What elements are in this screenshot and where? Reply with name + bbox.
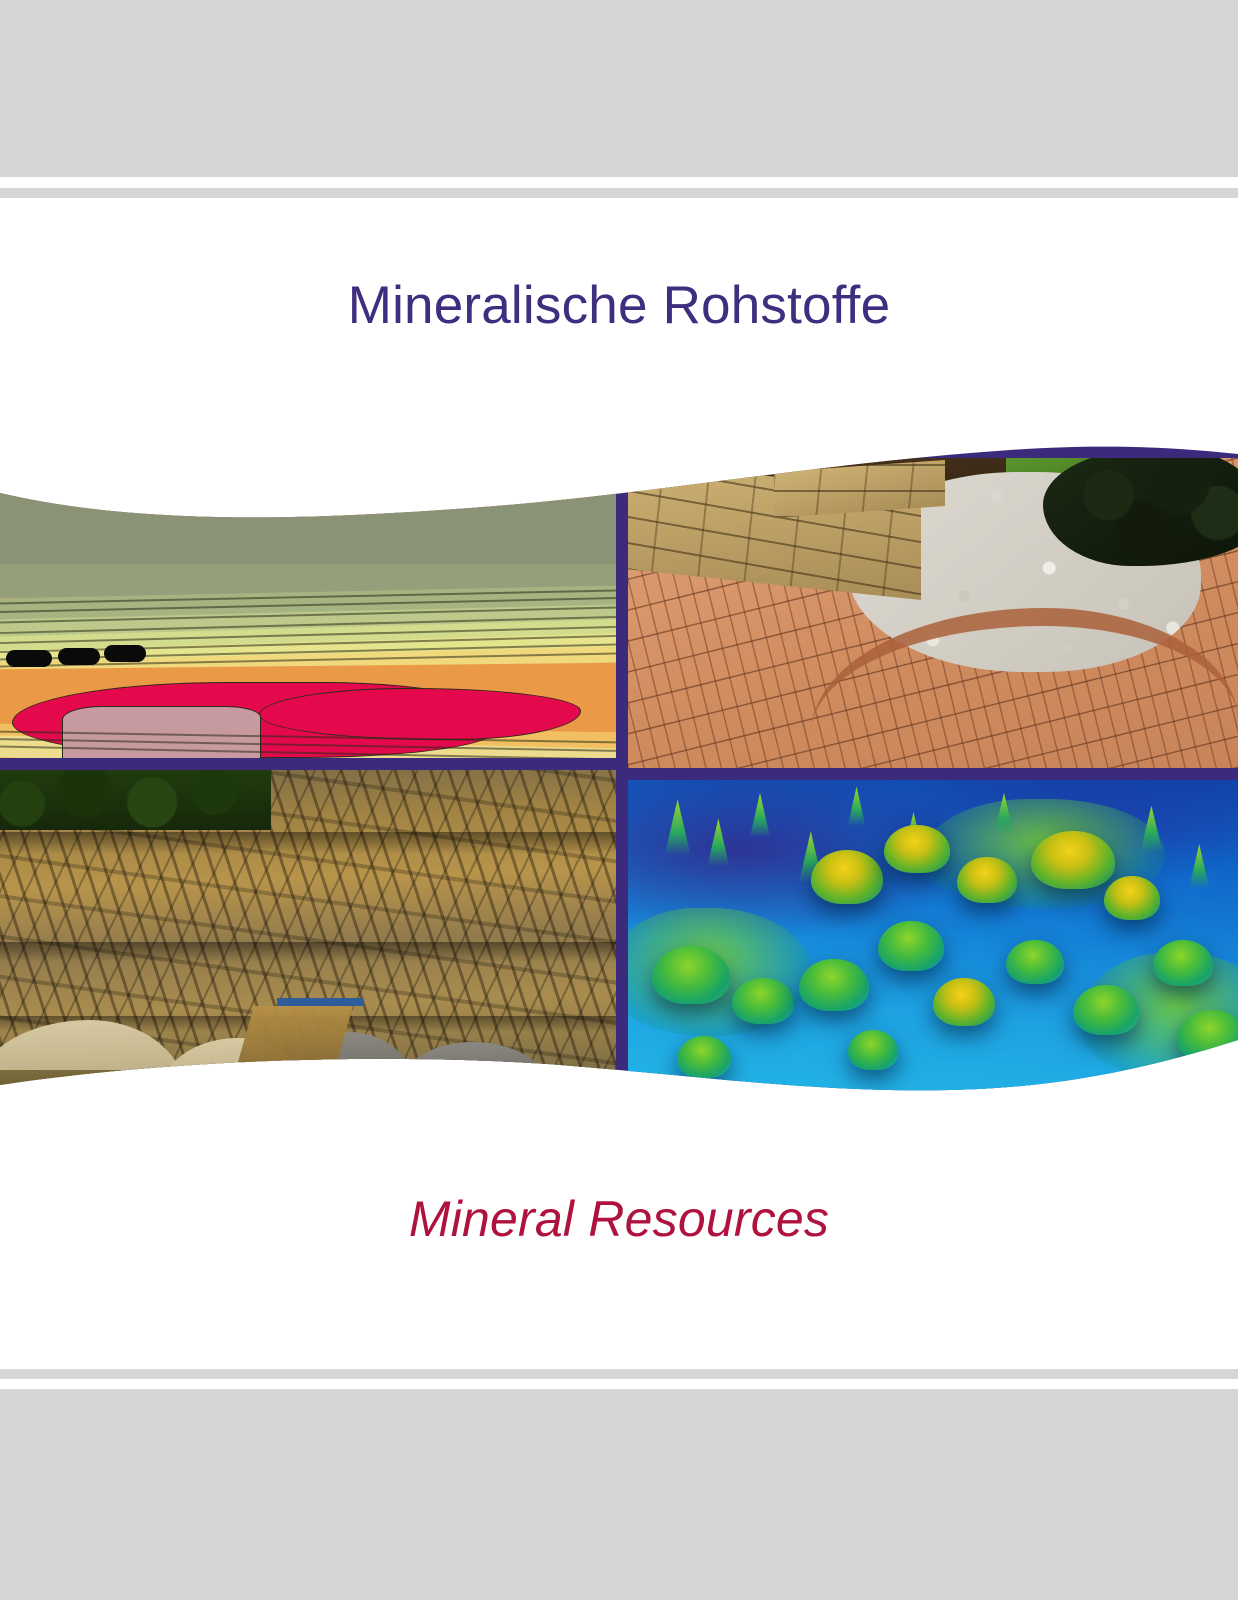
map-marker-bar (104, 645, 146, 662)
cover-page: Mineralische Rohstoffe (0, 0, 1238, 1600)
quarry-bench (0, 832, 616, 854)
bleed-band-bottom-strip (0, 1369, 1238, 1379)
page-title-en: Mineral Resources (0, 1192, 1238, 1247)
settling-pond (0, 1070, 419, 1100)
quarry-bench (0, 942, 616, 962)
cover-image-collage (0, 440, 1238, 1100)
plant-conveyor (277, 998, 363, 1006)
page-title-de: Mineralische Rohstoffe (0, 277, 1238, 335)
collage-image-geological-map (0, 492, 616, 758)
collage-image-garden-paving (628, 458, 1238, 768)
collage-image-quarry (0, 770, 616, 1100)
map-marker-bar (58, 648, 100, 665)
processing-plant (238, 1006, 353, 1062)
tree-line (0, 770, 271, 830)
bleed-band-top-block (0, 0, 1238, 177)
shrub (1043, 458, 1238, 566)
collage-image-seismic-3d (628, 780, 1238, 1100)
bleed-band-top-strip (0, 188, 1238, 198)
bleed-band-bottom-block (0, 1389, 1238, 1600)
map-marker-bar (6, 650, 52, 667)
